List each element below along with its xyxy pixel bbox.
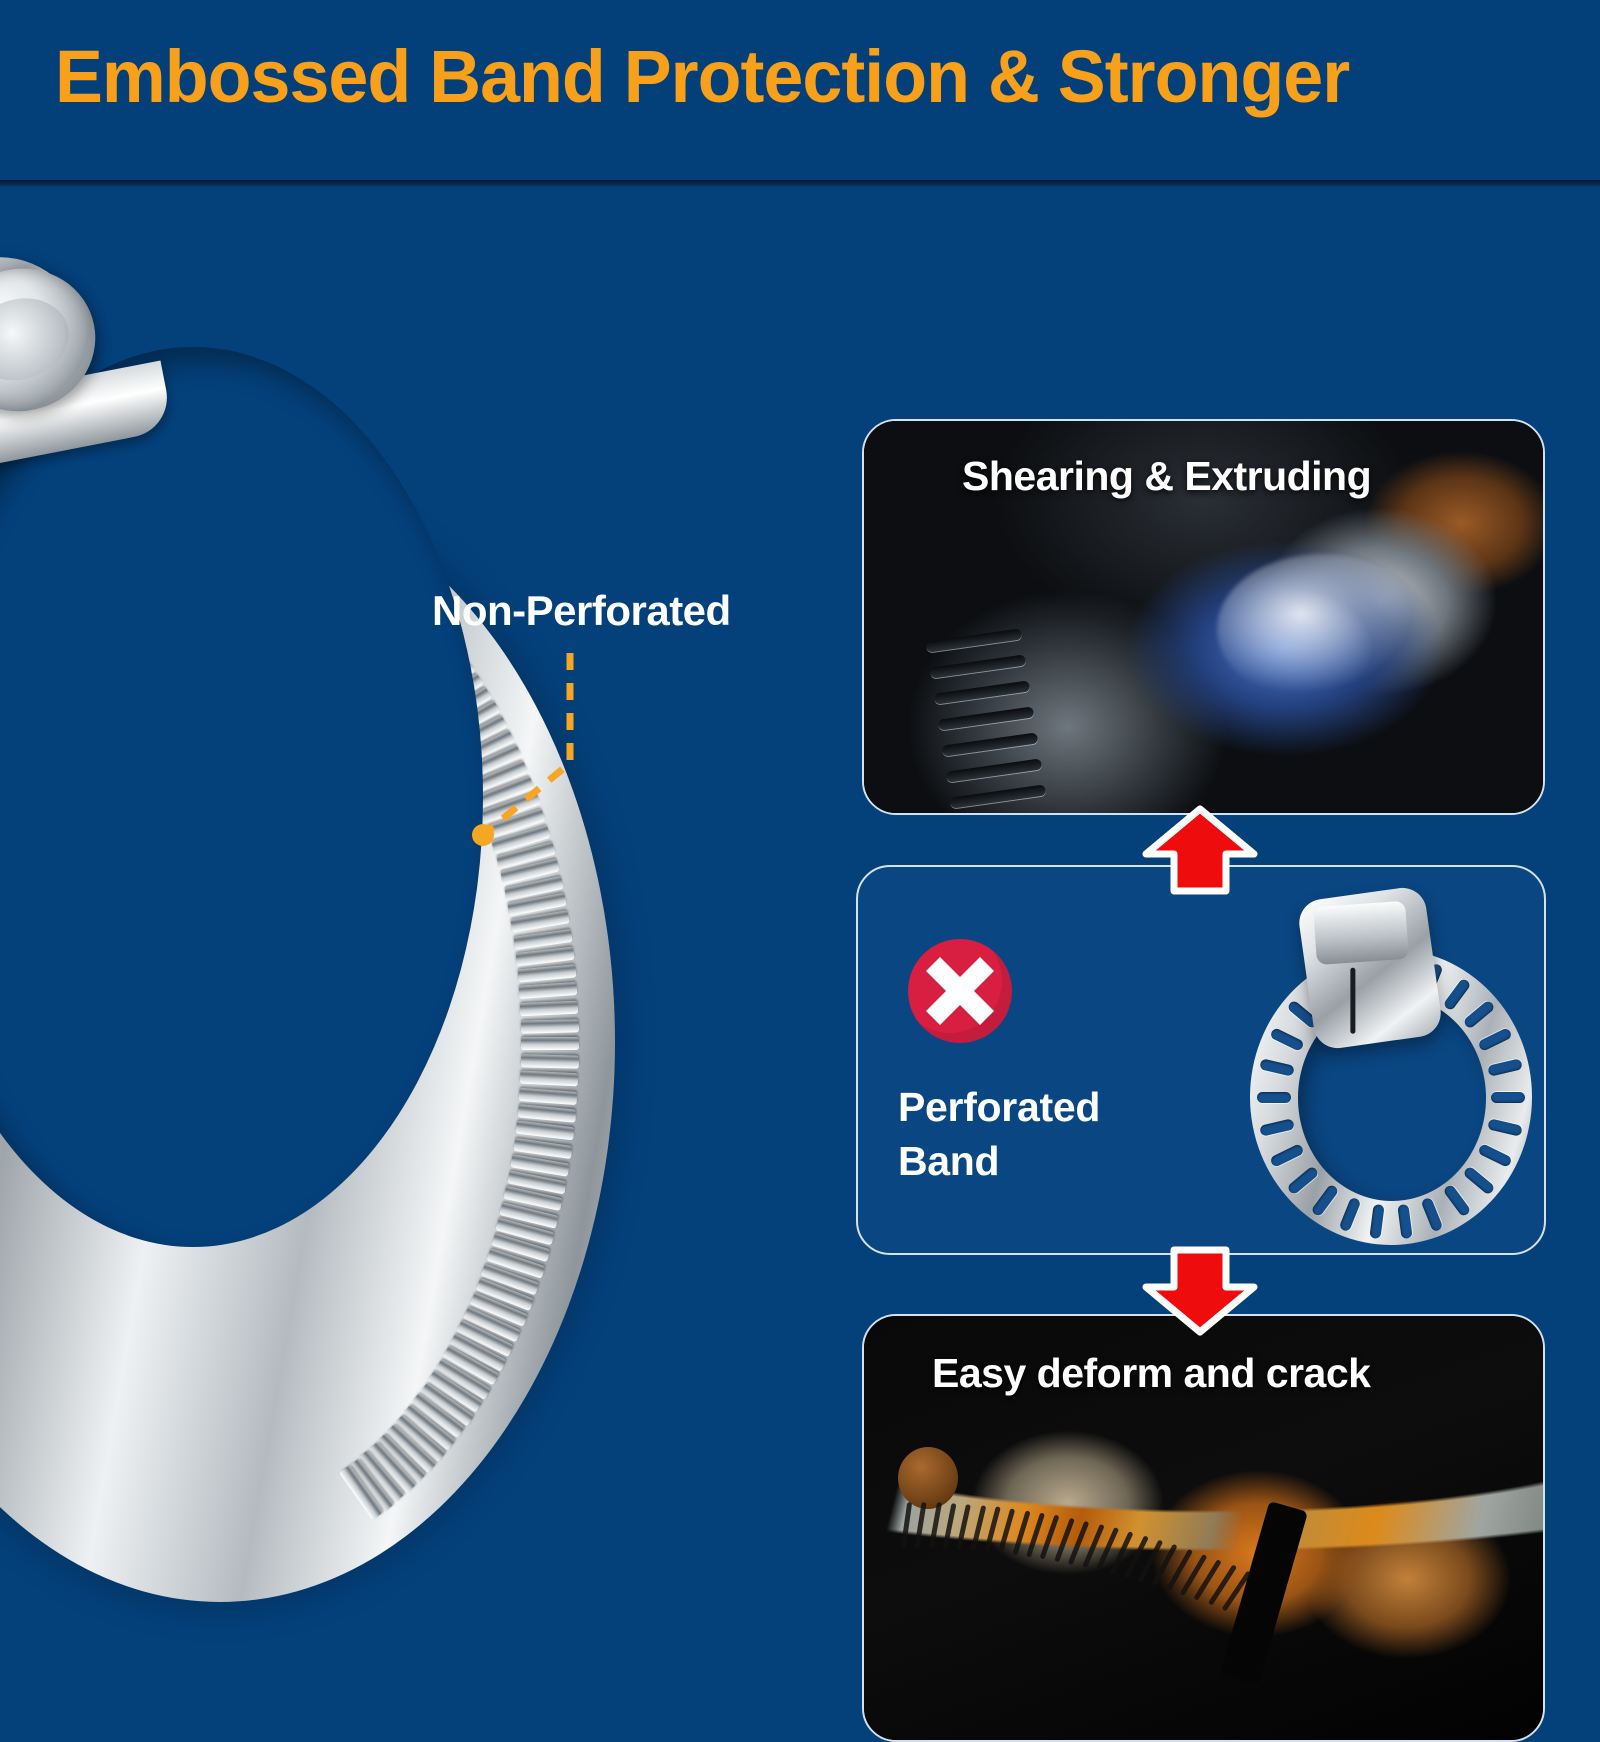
perforated-band-label: Perforated Band (898, 1080, 1100, 1188)
hero-clamp-image (0, 232, 725, 1602)
perforated-label-line1: Perforated (898, 1080, 1100, 1134)
perforated-slot (1491, 1092, 1525, 1103)
callout-leader-line (400, 567, 840, 867)
perforated-slot (1257, 1092, 1291, 1103)
shearing-slot (938, 706, 1035, 730)
perforated-clamp-crack (1350, 968, 1355, 1034)
arrow-up-icon (1138, 804, 1262, 896)
panel-shearing-extruding: Shearing & Extruding (862, 419, 1545, 815)
panel-easy-deform-crack: Easy deform and crack (862, 1314, 1545, 1742)
arrow-down-icon (1138, 1245, 1262, 1337)
shearing-slot (934, 680, 1031, 704)
perforated-label-line2: Band (898, 1134, 1100, 1188)
shearing-slot (950, 784, 1047, 808)
perforated-clamp-image (1222, 893, 1542, 1245)
perforated-clamp-head (1296, 885, 1444, 1051)
shearing-slot (946, 758, 1043, 782)
content-area: Non-Perforated Shearing & Extruding Perf… (0, 187, 1600, 1600)
rusted-screw (898, 1447, 958, 1509)
header-banner: Embossed Band Protection & Stronger (0, 0, 1600, 184)
shearing-caption: Shearing & Extruding (962, 453, 1371, 500)
shearing-slot (942, 732, 1039, 756)
deform-caption: Easy deform and crack (932, 1350, 1370, 1397)
header-divider (0, 180, 1600, 187)
rusted-band (878, 1443, 1545, 1689)
perforated-clamp-screw (1313, 901, 1409, 965)
shearing-slot (930, 654, 1027, 678)
x-mark-icon (908, 939, 1012, 1043)
shearing-highlight (1217, 554, 1427, 704)
shearing-slot (926, 628, 1023, 652)
page-title: Embossed Band Protection & Stronger (55, 38, 1349, 116)
clamp-screw-slot (0, 286, 79, 392)
